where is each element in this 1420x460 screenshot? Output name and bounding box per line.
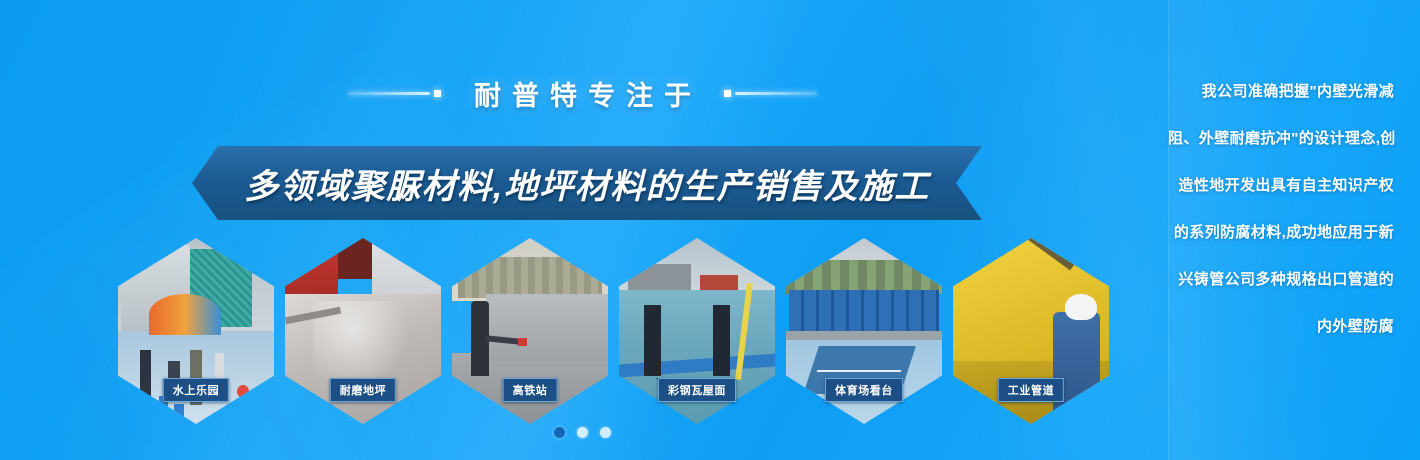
promo-banner: 耐普特专注于 多领域聚脲材料,地坪材料的生产销售及施工 水上乐园	[0, 0, 1420, 460]
case-card-water-park[interactable]: 水上乐园	[118, 238, 274, 424]
rule-knob-icon	[724, 90, 731, 97]
carousel-dots	[0, 427, 1165, 438]
description-line: 造性地开发出具有自主知识产权	[1168, 174, 1394, 195]
carousel-dot-1[interactable]	[554, 427, 565, 438]
rule-bar-icon	[735, 92, 817, 95]
carousel-dot-3[interactable]	[600, 427, 611, 438]
case-label: 工业管道	[998, 378, 1064, 402]
rule-bar-icon	[348, 92, 430, 95]
case-label: 体育场看台	[825, 378, 903, 402]
carousel-dot-2[interactable]	[577, 427, 588, 438]
case-card-flooring[interactable]: 耐磨地坪	[285, 238, 441, 424]
page-title: 多领域聚脲材料,地坪材料的生产销售及施工	[244, 159, 929, 208]
case-label: 高铁站	[503, 378, 558, 402]
rule-knob-icon	[434, 90, 441, 97]
decorative-rule-right	[724, 90, 817, 97]
case-label: 耐磨地坪	[330, 378, 396, 402]
case-card-pipeline[interactable]: 工业管道	[953, 238, 1109, 424]
title-banner: 多领域聚脲材料,地坪材料的生产销售及施工	[192, 146, 982, 220]
decorative-rule-left	[348, 90, 441, 97]
case-card-rail-station[interactable]: 高铁站	[452, 238, 608, 424]
description-line: 兴铸管公司多种规格出口管道的	[1168, 268, 1394, 289]
description-line: 阻、外壁耐磨抗冲"的设计理念,创	[1168, 127, 1394, 148]
case-card-steel-roof[interactable]: 彩钢瓦屋面	[619, 238, 775, 424]
description-line: 内外壁防腐	[1168, 315, 1394, 336]
eyebrow-row: 耐普特专注于	[0, 74, 1165, 113]
case-label: 水上乐园	[163, 378, 229, 402]
description-column: 我公司准确把握"内壁光滑减 阻、外壁耐磨抗冲"的设计理念,创 造性地开发出具有自…	[1168, 80, 1406, 336]
description-line: 我公司准确把握"内壁光滑减	[1168, 80, 1394, 101]
case-thumbnail-row: 水上乐园 耐磨地坪 高铁站	[118, 238, 1118, 426]
case-card-stadium[interactable]: 体育场看台	[786, 238, 942, 424]
description-line: 的系列防腐材料,成功地应用于新	[1168, 221, 1394, 242]
case-label: 彩钢瓦屋面	[658, 378, 736, 402]
eyebrow-text: 耐普特专注于	[463, 74, 702, 113]
